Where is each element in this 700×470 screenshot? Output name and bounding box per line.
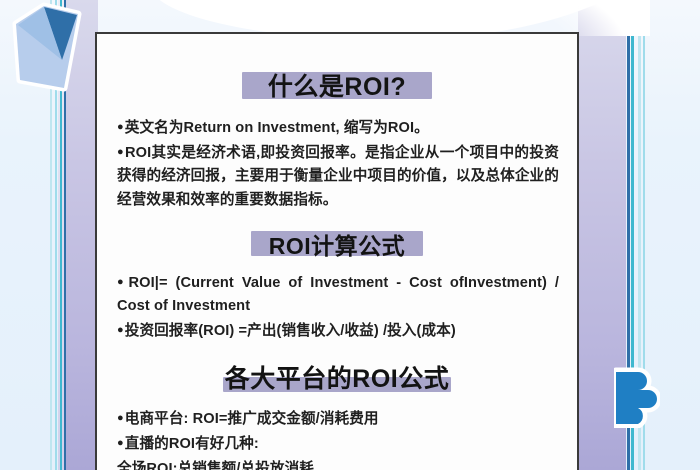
content-card: 什么是ROI? 英文名为Return on Investment, 缩写为ROI… <box>95 32 579 470</box>
list-item: ROI其实是经济术语,即投资回报率。是指企业从一个项目中的投资获得的经济回报，主… <box>117 142 559 213</box>
list-item: ROI|= (Current Value of Investment - Cos… <box>117 272 559 319</box>
list-item: 英文名为Return on Investment, 缩写为ROI。 <box>117 117 559 141</box>
list-item: 电商平台: ROI=推广成交金额/消耗费用 <box>117 408 559 432</box>
section-what-is-roi-body: 英文名为Return on Investment, 缩写为ROI。 ROI其实是… <box>111 117 563 213</box>
section-platform-formulas-body: 电商平台: ROI=推广成交金额/消耗费用 直播的ROI有好几种: 全场ROI:… <box>111 408 563 470</box>
section-roi-formula-body: ROI|= (Current Value of Investment - Cos… <box>111 272 563 344</box>
card-inner: 什么是ROI? 英文名为Return on Investment, 缩写为ROI… <box>97 67 577 470</box>
paper-plane-icon <box>4 2 82 102</box>
heading-what-is-roi: 什么是ROI? <box>111 67 563 103</box>
puzzle-piece-icon <box>614 366 660 428</box>
heading-platform-formulas-label: 各大平台的ROI公式 <box>222 359 452 395</box>
list-item: 投资回报率(ROI) =产出(销售收入/收益) /投入(成本) <box>117 320 559 344</box>
top-white-sweep-glow <box>420 0 650 36</box>
list-item: 全场ROI:总销售额/总投放消耗 <box>117 458 559 470</box>
heading-roi-formula: ROI计算公式 <box>111 227 563 261</box>
poster-canvas: 什么是ROI? 英文名为Return on Investment, 缩写为ROI… <box>0 0 700 470</box>
heading-what-is-roi-label: 什么是ROI? <box>265 67 409 103</box>
list-item: 直播的ROI有好几种: <box>117 433 559 457</box>
heading-roi-formula-label: ROI计算公式 <box>266 227 408 261</box>
heading-platform-formulas: 各大平台的ROI公式 <box>111 359 563 395</box>
